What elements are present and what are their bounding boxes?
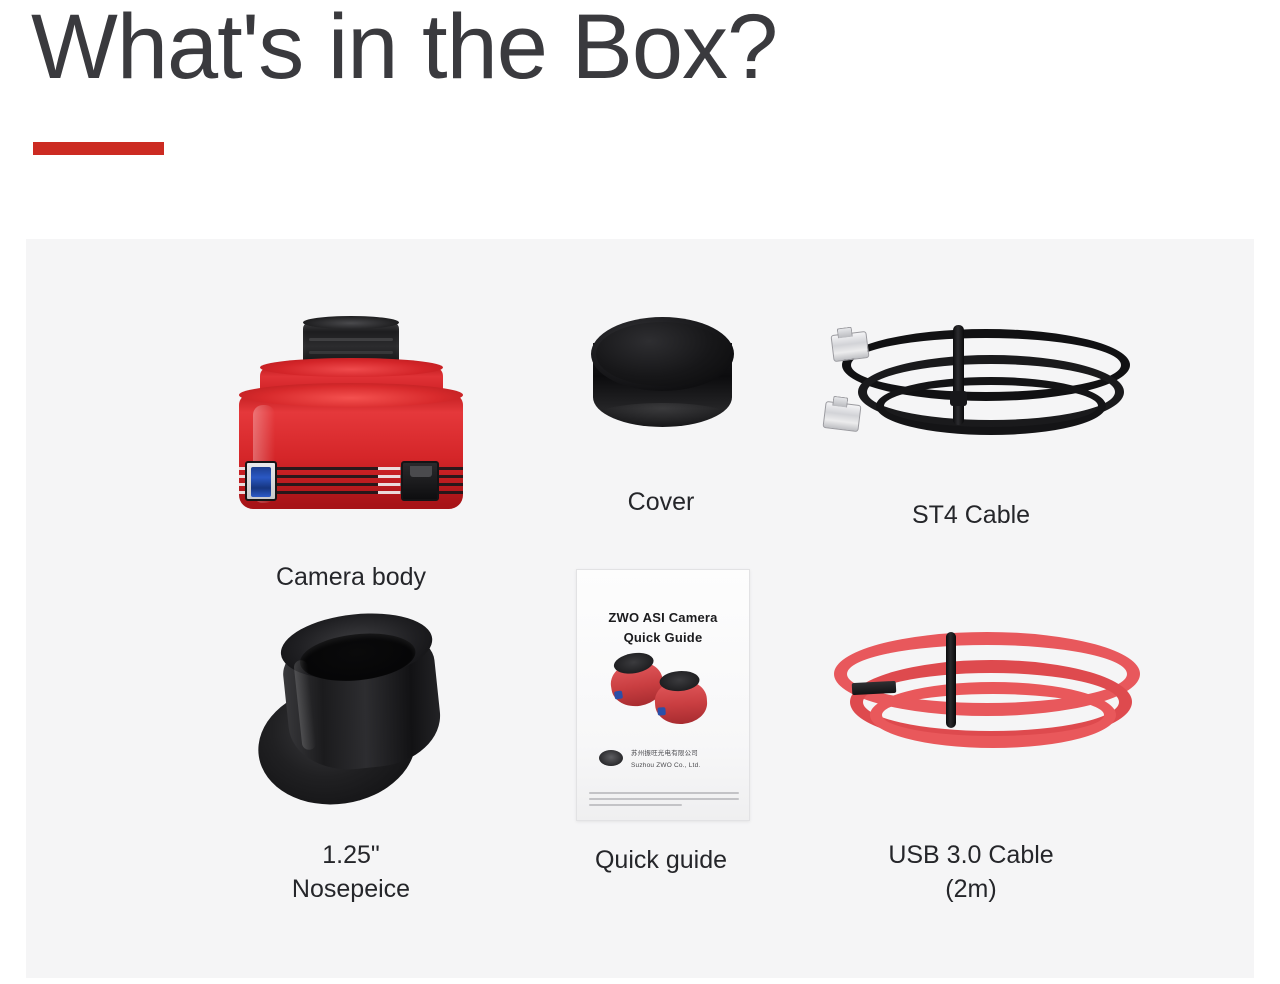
whats-in-the-box-panel: Camera body Cover xyxy=(26,239,1254,978)
st4-cable-icon xyxy=(816,319,1126,451)
usb-label-length: (2m) xyxy=(945,875,996,903)
usb-cable-tie xyxy=(946,632,956,728)
box-items-grid: Camera body Cover xyxy=(26,239,1254,978)
item-label-quick-guide: Quick guide xyxy=(531,844,791,878)
guide-title-line2: Quick Guide xyxy=(624,630,703,645)
st4-cable-loop-inner xyxy=(876,377,1106,435)
item-label-camera-body: Camera body xyxy=(196,561,506,595)
guide-company-row: 苏州振旺光电有限公司 Suzhou ZWO Co., Ltd. xyxy=(593,748,735,774)
item-label-cover: Cover xyxy=(531,486,791,520)
nosepiece-bore xyxy=(298,628,418,686)
guide-company-cn: 苏州振旺光电有限公司 xyxy=(631,750,698,757)
nosepiece-icon xyxy=(258,624,444,809)
guide-cover-title: ZWO ASI Camera Quick Guide xyxy=(577,608,749,648)
guide-company-en: Suzhou ZWO Co., Ltd. xyxy=(631,762,700,769)
item-label-usb-cable: USB 3.0 Cable (2m) xyxy=(816,839,1126,906)
st4-port-icon xyxy=(401,461,439,501)
guide-camera-illustration xyxy=(609,658,719,730)
quick-guide-icon: ZWO ASI Camera Quick Guide 苏州振旺光电有限公司 Su… xyxy=(576,569,750,821)
usb-cable-loop-inner xyxy=(870,682,1116,748)
zwo-logo-icon xyxy=(599,750,623,766)
camera-body-icon xyxy=(221,309,481,539)
item-label-nosepiece: 1.25" Nosepeice xyxy=(196,839,506,906)
guide-company-text: 苏州振旺光电有限公司 Suzhou ZWO Co., Ltd. xyxy=(631,748,735,773)
rj-connector-icon xyxy=(822,401,861,432)
cover-top-face xyxy=(591,317,734,391)
page-title: What's in the Box? xyxy=(31,0,777,103)
nosepiece-label-name: Nosepeice xyxy=(292,875,410,903)
guide-fine-print xyxy=(589,792,739,810)
usb-label-name: USB 3.0 Cable xyxy=(888,841,1053,869)
cover-rim-highlight xyxy=(595,403,730,429)
guide-camera-icon xyxy=(654,678,709,726)
usb-port-icon xyxy=(245,461,277,501)
title-accent-rule xyxy=(33,142,164,155)
st4-cable-tie xyxy=(953,325,964,425)
usb-cable-icon xyxy=(816,624,1126,756)
cover-icon xyxy=(591,317,734,442)
nosepiece-label-size: 1.25" xyxy=(322,841,380,869)
usb-connector-icon xyxy=(852,681,897,695)
item-label-st4-cable: ST4 Cable xyxy=(816,499,1126,533)
guide-title-line1: ZWO ASI Camera xyxy=(608,610,717,625)
camera-port-strip xyxy=(239,461,463,503)
rj-connector-icon xyxy=(830,331,869,362)
